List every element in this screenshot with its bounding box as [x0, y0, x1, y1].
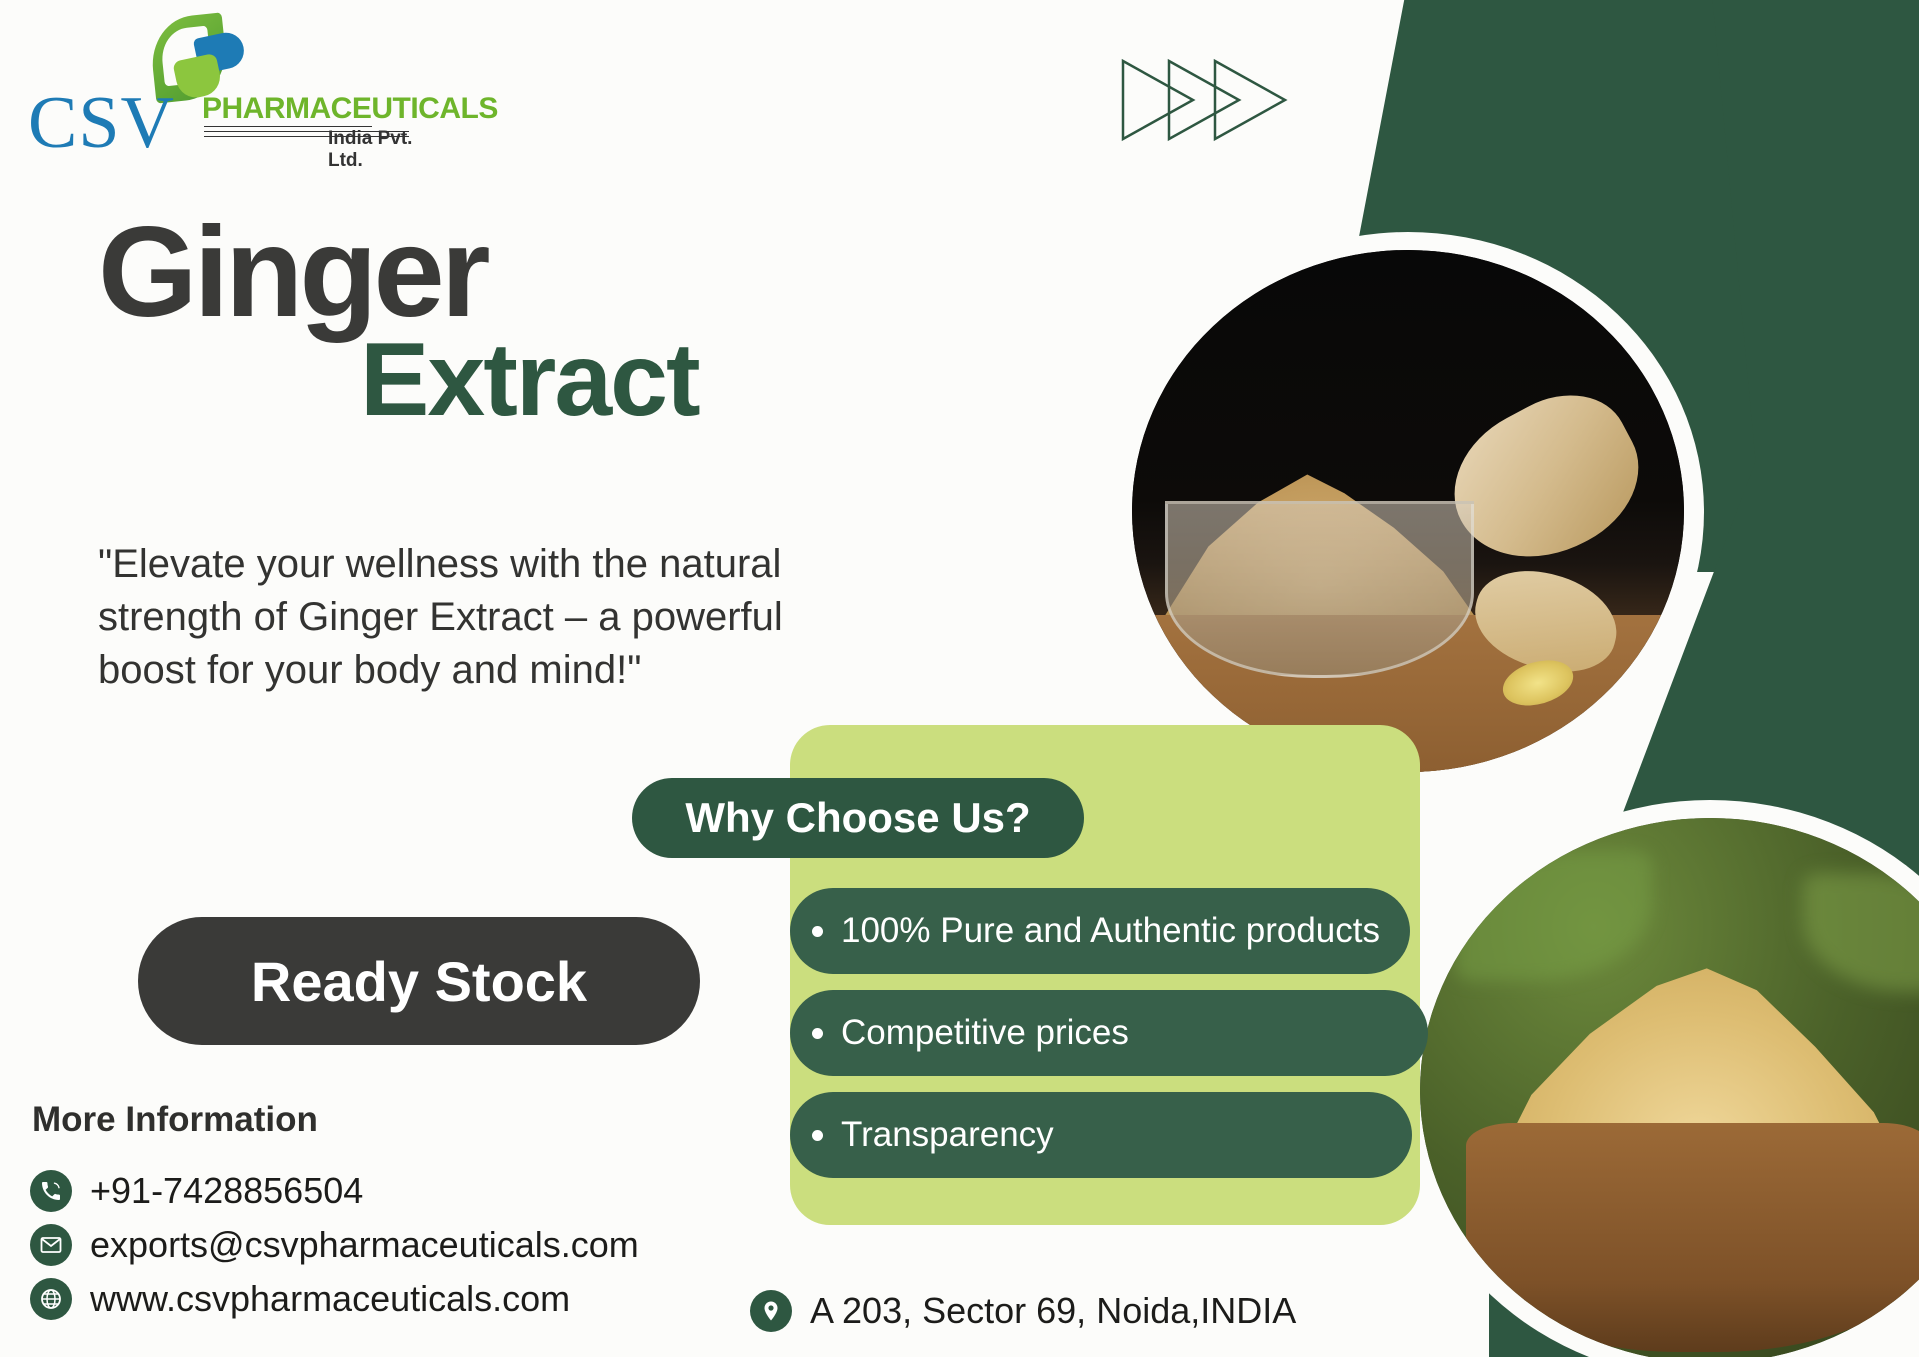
- list-item-label: Competitive prices: [841, 1013, 1129, 1053]
- location-pin-icon: [750, 1290, 792, 1332]
- contact-website-text: www.csvpharmaceuticals.com: [90, 1278, 570, 1320]
- ready-stock-button[interactable]: Ready Stock: [138, 917, 700, 1045]
- contact-row-phone[interactable]: +91-7428856504: [30, 1170, 639, 1212]
- email-icon: [30, 1224, 72, 1266]
- logo-pharmaceuticals-text: PHARMACEUTICALS: [202, 92, 498, 126]
- bullet-dot-icon: [812, 1028, 823, 1039]
- list-item: Competitive prices: [790, 990, 1428, 1076]
- more-information-heading: More Information: [32, 1100, 318, 1140]
- list-item-label: 100% Pure and Authentic products: [841, 911, 1380, 951]
- contact-phone-text: +91-7428856504: [90, 1170, 363, 1212]
- ginger-powder-bowl-photo: [1132, 250, 1684, 772]
- contact-address-text: A 203, Sector 69, Noida,INDIA: [810, 1290, 1296, 1332]
- page-title: Ginger Extract: [98, 212, 699, 432]
- contact-row-website[interactable]: www.csvpharmaceuticals.com: [30, 1278, 639, 1320]
- poster-canvas: CSV PHARMACEUTICALS India Pvt. Ltd. Ging…: [0, 0, 1919, 1357]
- contact-row-email[interactable]: exports@csvpharmaceuticals.com: [30, 1224, 639, 1266]
- phone-icon: [30, 1170, 72, 1212]
- globe-icon: [30, 1278, 72, 1320]
- title-line-ginger: Ginger: [98, 212, 699, 334]
- ginger-powder-wooden-bowl-photo: [1420, 818, 1919, 1357]
- contact-email-text: exports@csvpharmaceuticals.com: [90, 1224, 639, 1266]
- triple-chevron-right-icon: [1115, 55, 1295, 150]
- bullet-dot-icon: [812, 926, 823, 937]
- list-item: 100% Pure and Authentic products: [790, 888, 1410, 974]
- product-description: "Elevate your wellness with the natural …: [98, 538, 798, 696]
- logo-subtitle-text: India Pvt. Ltd.: [328, 128, 418, 172]
- why-choose-us-badge: Why Choose Us?: [632, 778, 1084, 858]
- bullet-dot-icon: [812, 1130, 823, 1141]
- contact-list: +91-7428856504 exports@csvpharmaceutical…: [30, 1170, 639, 1332]
- why-choose-us-list: 100% Pure and Authentic products Competi…: [790, 888, 1430, 1194]
- contact-row-address[interactable]: A 203, Sector 69, Noida,INDIA: [750, 1290, 1296, 1332]
- list-item: Transparency: [790, 1092, 1412, 1178]
- logo-csv-text: CSV: [28, 86, 175, 160]
- list-item-label: Transparency: [841, 1115, 1054, 1155]
- company-logo: CSV PHARMACEUTICALS India Pvt. Ltd.: [28, 8, 418, 168]
- title-line-extract: Extract: [360, 328, 699, 432]
